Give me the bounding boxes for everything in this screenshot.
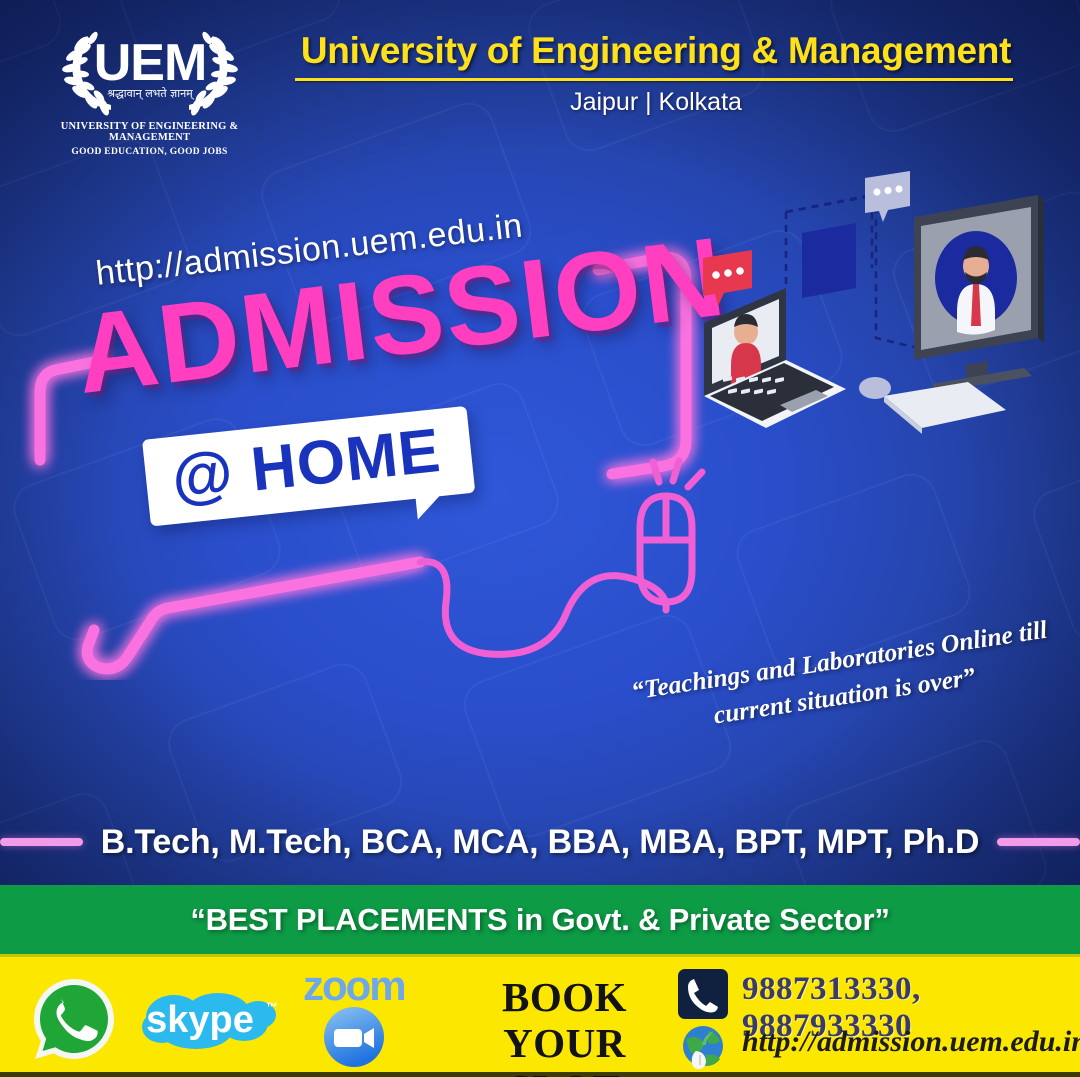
laptop	[704, 288, 846, 428]
svg-text:skype: skype	[146, 999, 254, 1041]
courses-dash-left	[0, 838, 83, 846]
campus-cities: Jaipur | Kolkata	[286, 88, 1026, 117]
neon-mouse-cable	[420, 562, 666, 655]
tagline-quote: “Teachings and Laboratories Online till …	[614, 609, 1070, 747]
university-name: University of Engineering & Management	[286, 30, 1026, 72]
logo-line-1: UNIVERSITY OF ENGINEERING & MANAGEMENT	[47, 121, 252, 143]
hero-subhead: @ HOME	[169, 420, 444, 510]
footer-website: http://admission.uem.edu.in	[742, 1025, 1080, 1059]
desk-mouse	[859, 377, 891, 399]
neon-mouse-icon	[640, 461, 702, 602]
whatsapp-icon[interactable]	[30, 975, 118, 1063]
floating-card	[802, 223, 856, 298]
globe-mouse-icon	[678, 1023, 728, 1071]
hero-subhead-bubble: @ HOME	[142, 406, 475, 527]
university-name-underline	[295, 78, 1013, 81]
zoom-label: zoom	[303, 967, 405, 1005]
placement-banner-text: “BEST PLACEMENTS in Govt. & Private Sect…	[190, 902, 889, 938]
courses-dash-right	[997, 838, 1080, 846]
uem-logo: UEM श्रद्धावान् लभते ज्ञानम् UNIVERSITY …	[47, 22, 252, 162]
svg-text:श्रद्धावान् लभते ज्ञानम्: श्रद्धावान् लभते ज्ञानम्	[107, 87, 195, 100]
svg-text:™: ™	[266, 1000, 278, 1014]
logo-line-2: GOOD EDUCATION, GOOD JOBS	[47, 147, 252, 157]
zoom-icon[interactable]: zoom	[303, 967, 405, 1074]
svg-text:UEM: UEM	[93, 34, 206, 92]
uem-logo-mark: UEM श्रद्धावान् लभते ज्ञानम्	[55, 22, 245, 120]
bubble-tail	[415, 494, 443, 520]
neon-bracket-left-bottom	[87, 562, 420, 669]
video-call-illustration	[676, 160, 1080, 462]
keyboard	[884, 382, 1006, 462]
chat-bubble-red	[703, 250, 752, 306]
desktop-monitor	[914, 195, 1044, 392]
courses-row: B.Tech, M.Tech, BCA, MCA, BBA, MBA, BPT,…	[0, 818, 1080, 866]
footer-bar: skype ™ zoom BOOK	[0, 957, 1080, 1077]
cta-line-2: YOUR SLOT	[452, 1021, 677, 1077]
skype-icon[interactable]: skype ™	[140, 987, 285, 1051]
courses-list: B.Tech, M.Tech, BCA, MCA, BBA, MBA, BPT,…	[101, 823, 979, 862]
placement-banner: “BEST PLACEMENTS in Govt. & Private Sect…	[0, 885, 1080, 957]
phone-icon	[678, 969, 728, 1019]
book-slot-cta[interactable]: BOOK YOUR SLOT	[452, 975, 677, 1077]
cta-line-1: BOOK	[452, 975, 677, 1021]
admission-poster: UEM श्रद्धावान् लभते ज्ञानम् UNIVERSITY …	[0, 0, 1080, 1077]
zoom-camera-icon	[322, 1005, 386, 1069]
